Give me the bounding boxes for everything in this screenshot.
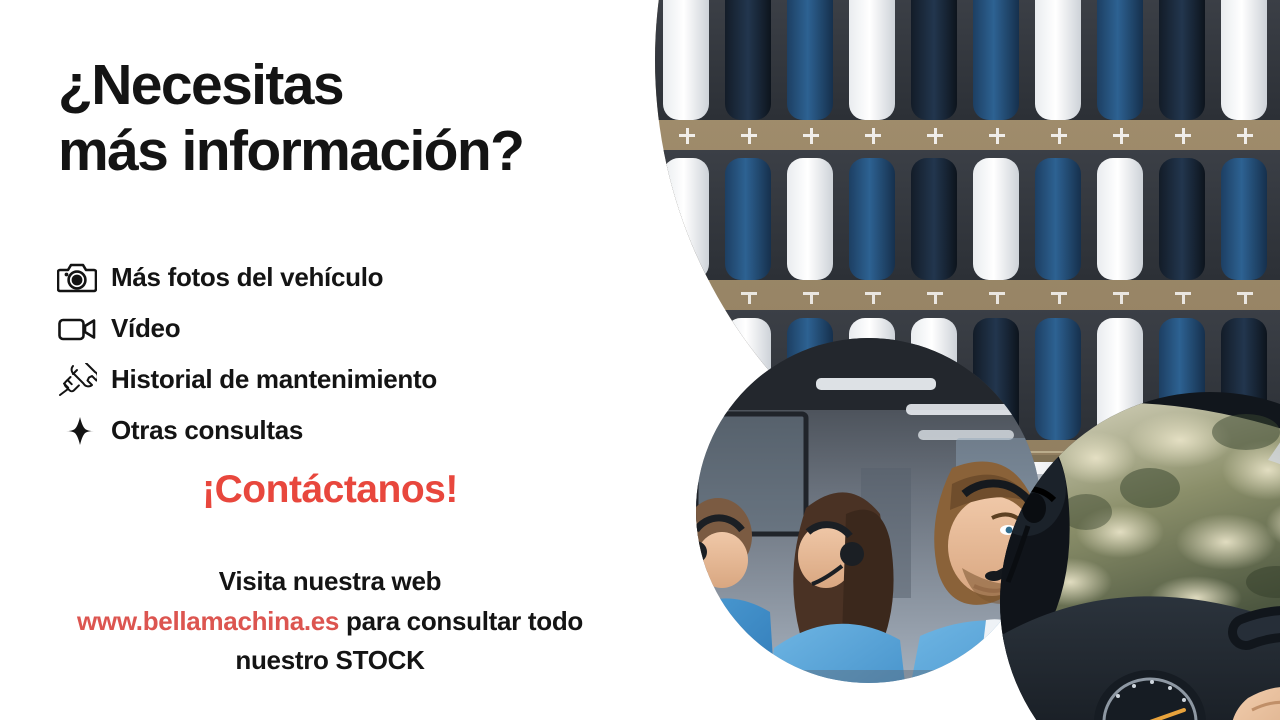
website-footer: Visita nuestra web www.bellamachina.es p… — [0, 562, 660, 681]
wrench-hand-icon — [55, 360, 111, 400]
page-title: ¿Necesitas más información? — [58, 52, 698, 184]
sparkle-icon — [55, 411, 111, 451]
driving-photo — [1000, 392, 1280, 720]
camera-icon — [55, 258, 111, 298]
list-item-label: Más fotos del vehículo — [111, 262, 383, 293]
website-url[interactable]: www.bellamachina.es — [77, 606, 339, 636]
video-camera-icon — [55, 309, 111, 349]
list-item: Otras consultas — [55, 405, 655, 456]
list-item-label: Otras consultas — [111, 415, 303, 446]
list-item-label: Vídeo — [111, 313, 180, 344]
list-item-label: Historial de mantenimiento — [111, 364, 437, 395]
contact-cta[interactable]: ¡Contáctanos! — [0, 468, 660, 512]
footer-line-2-rest: para consultar todo — [339, 606, 583, 636]
feature-list: Más fotos del vehículo Vídeo — [55, 252, 655, 456]
promo-banner: ¿Necesitas más información? Más fotos de… — [0, 0, 1280, 720]
footer-line-1: Visita nuestra web — [0, 562, 660, 602]
list-item: Vídeo — [55, 303, 655, 354]
call-center-photo — [696, 338, 1041, 683]
list-item: Historial de mantenimiento — [55, 354, 655, 405]
footer-line-2: www.bellamachina.es para consultar todo — [0, 602, 660, 642]
footer-line-3: nuestro STOCK — [0, 641, 660, 681]
list-item: Más fotos del vehículo — [55, 252, 655, 303]
